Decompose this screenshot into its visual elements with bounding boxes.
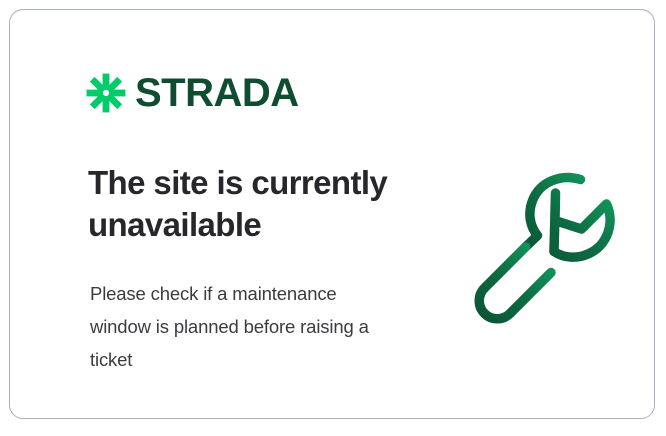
status-card: STRADA The site is currently unavailable…	[9, 9, 655, 419]
brand-wordmark: STRADA	[135, 73, 299, 113]
brand-logo: STRADA	[86, 73, 299, 113]
error-page: STRADA The site is currently unavailable…	[0, 0, 666, 436]
asterisk-star-icon	[86, 73, 126, 113]
page-description: Please check if a maintenance window is …	[90, 278, 395, 377]
wrench-icon	[462, 160, 630, 328]
page-title: The site is currently unavailable	[88, 162, 418, 245]
